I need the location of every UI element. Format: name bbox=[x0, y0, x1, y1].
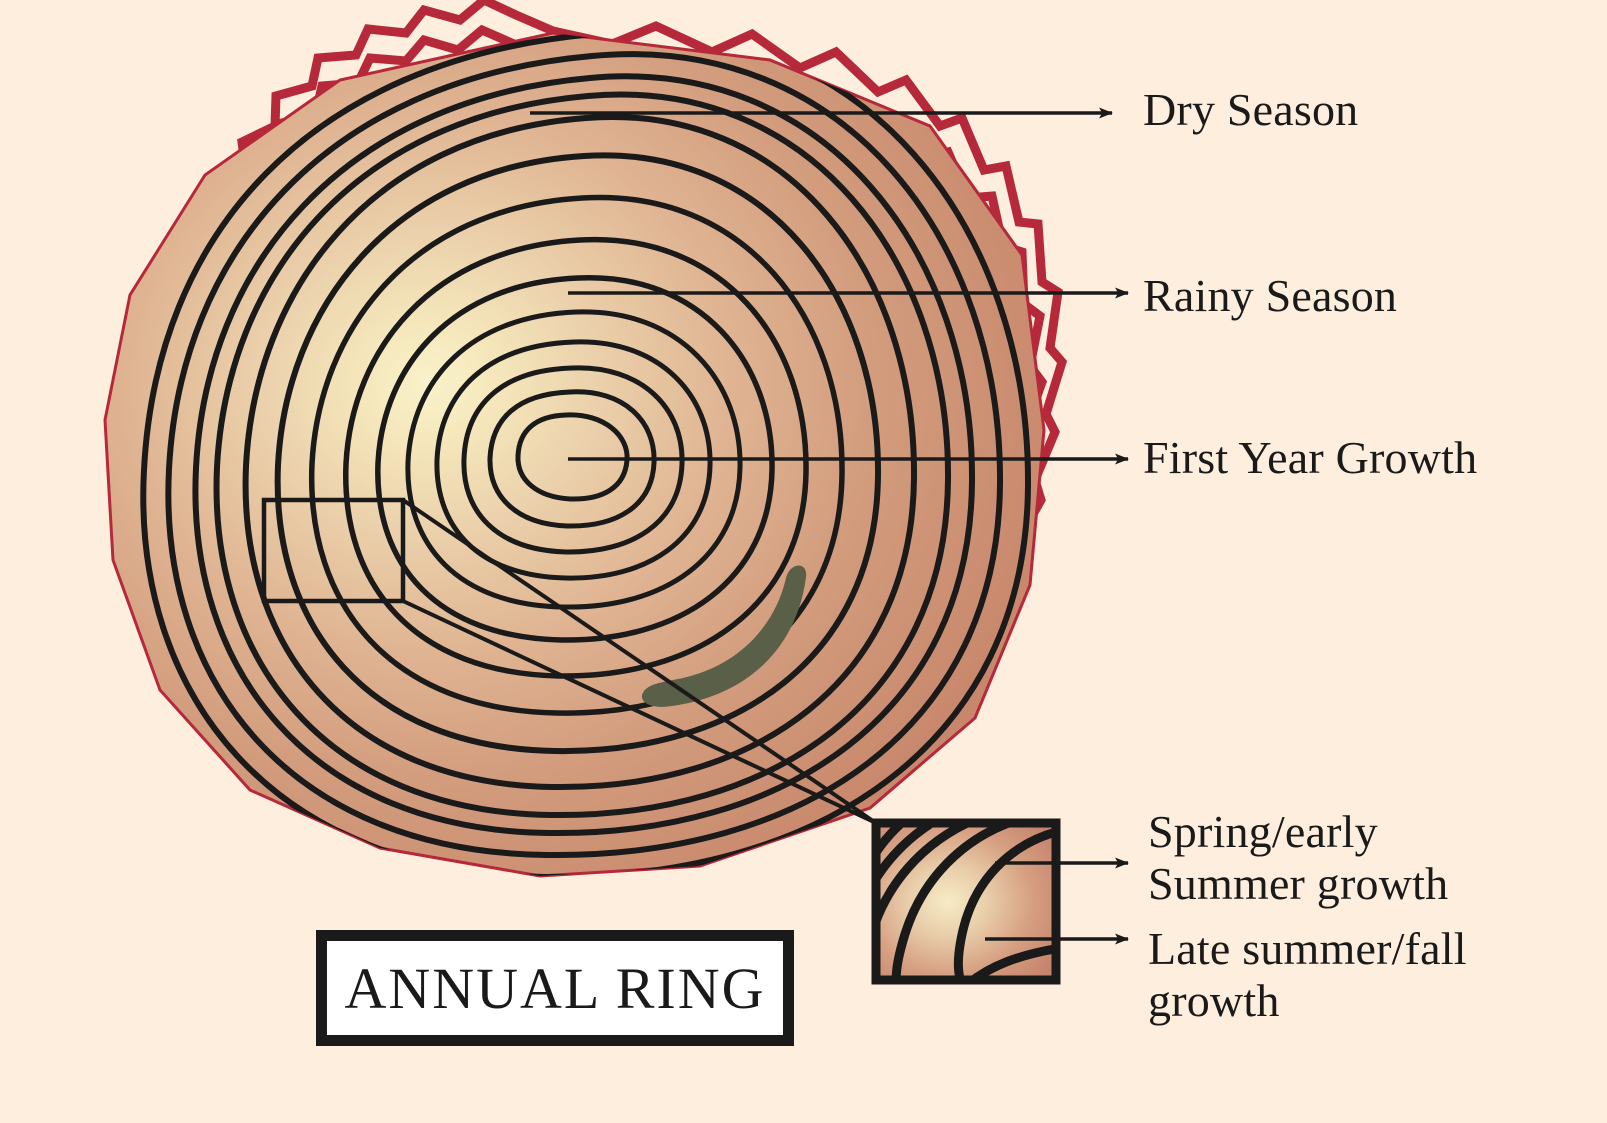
callout-label-rainy-season: Rainy Season bbox=[1143, 270, 1397, 322]
diagram-canvas: Dry Season Rainy Season First Year Growt… bbox=[0, 0, 1607, 1123]
callout-label-first-year-growth: First Year Growth bbox=[1143, 432, 1477, 484]
annual-ring-caption-text: ANNUAL RING bbox=[345, 955, 766, 1022]
callout-label-spring-early-summer: Spring/early Summer growth bbox=[1148, 806, 1448, 909]
magnified-inset[interactable] bbox=[852, 819, 1060, 990]
callout-label-late-summer-fall: Late summer/fall growth bbox=[1148, 923, 1467, 1026]
callout-label-dry-season: Dry Season bbox=[1143, 84, 1358, 136]
annual-ring-caption-box: ANNUAL RING bbox=[316, 930, 794, 1046]
